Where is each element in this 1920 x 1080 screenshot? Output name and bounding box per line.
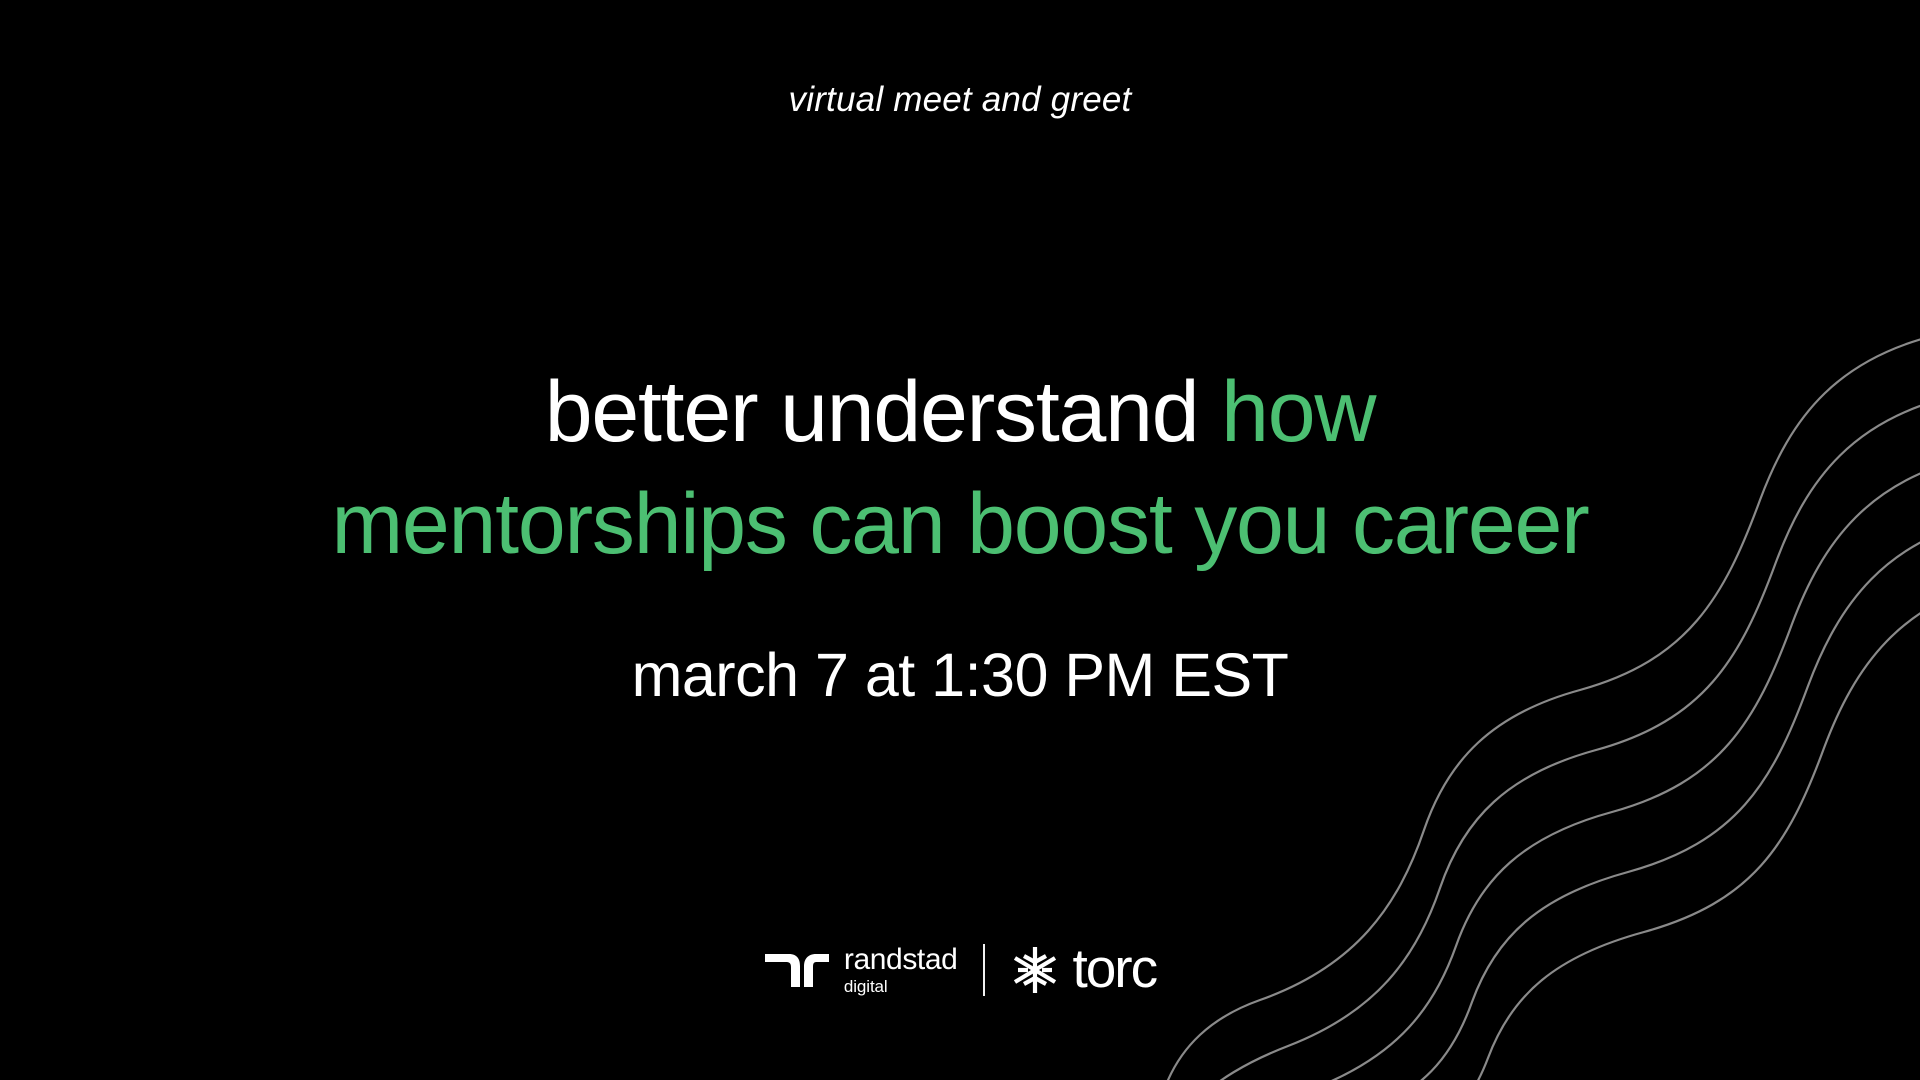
eyebrow-text: virtual meet and greet xyxy=(0,80,1920,120)
headline-green-word: how xyxy=(1221,364,1375,460)
vertical-divider-icon xyxy=(983,944,985,996)
headline-line-2: mentorships can boost you career xyxy=(0,469,1920,581)
logo-lockup: randstad digital torc xyxy=(0,944,1920,996)
randstad-wordmark: randstad digital xyxy=(844,945,958,995)
headline-white-part: better understand xyxy=(545,364,1221,460)
headline-line-1: better understand how xyxy=(0,357,1920,469)
event-datetime: march 7 at 1:30 PM EST xyxy=(0,640,1920,710)
torc-wordmark: torc xyxy=(1072,941,1156,996)
torc-asterisk-icon xyxy=(1011,945,1059,995)
page-title: better understand how mentorships can bo… xyxy=(0,357,1920,581)
randstad-mark-icon xyxy=(764,950,830,990)
randstad-word-sub: digital xyxy=(844,978,888,995)
torc-logo: torc xyxy=(1011,944,1156,996)
randstad-word-main: randstad xyxy=(844,945,958,975)
randstad-digital-logo: randstad digital xyxy=(764,945,958,995)
presentation-slide: virtual meet and greet better understand… xyxy=(0,0,1920,1080)
